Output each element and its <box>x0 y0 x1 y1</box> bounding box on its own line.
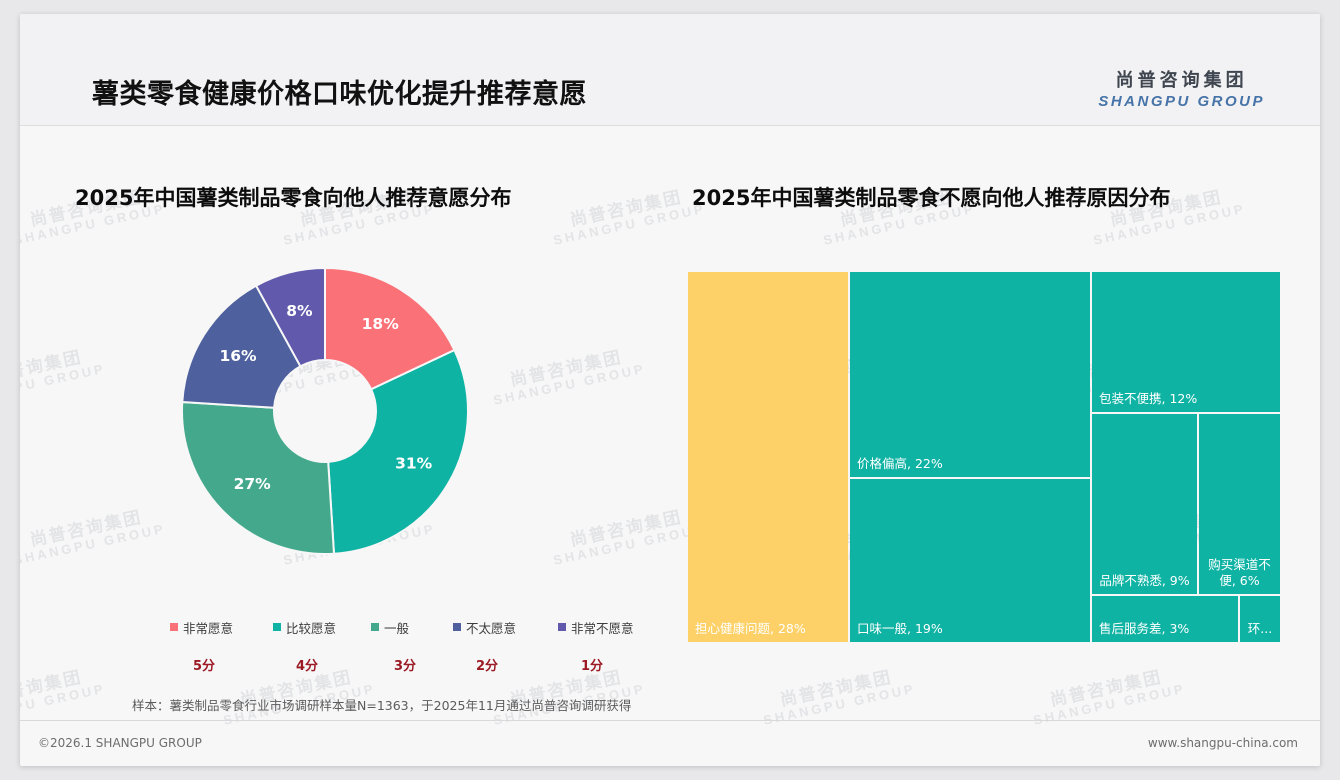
brand-logo: 尚普咨询集团 SHANGPU GROUP <box>1098 66 1265 110</box>
treemap-cell[interactable]: 包装不便携, 12% <box>1092 272 1280 412</box>
slide-canvas: 尚普咨询集团SHANGPU GROUP尚普咨询集团SHANGPU GROUP尚普… <box>20 14 1320 766</box>
page-title: 薯类零食健康价格口味优化提升推荐意愿 <box>92 72 587 111</box>
treemap-cell-label: 购买渠道不便, 6% <box>1203 557 1276 589</box>
score-label: 1分 <box>558 655 660 675</box>
legend-swatch-icon <box>170 623 178 631</box>
watermark-text: 尚普咨询集团SHANGPU GROUP <box>20 663 107 728</box>
treemap-cell-label: 价格偏高, 22% <box>857 456 1086 472</box>
donut-legend: 非常愿意比较愿意一般不太愿意非常不愿意 <box>170 617 660 637</box>
sample-note: 样本：薯类制品零食行业市场调研样本量N=1363，于2025年11月通过尚普咨询… <box>132 695 631 714</box>
watermark-text: 尚普咨询集团SHANGPU GROUP <box>20 343 107 408</box>
right-chart-title: 2025年中国薯类制品零食不愿向他人推荐原因分布 <box>692 182 1170 212</box>
logo-chinese-text: 尚普咨询集团 <box>1098 66 1265 92</box>
donut-chart: 18%31%27%16%8% <box>180 266 470 556</box>
legend-item[interactable]: 一般 <box>371 617 453 637</box>
score-label: 5分 <box>170 655 273 675</box>
legend-swatch-icon <box>558 623 566 631</box>
watermark-text: 尚普咨询集团SHANGPU GROUP <box>20 503 167 568</box>
treemap-cell[interactable]: 品牌不熟悉, 9% <box>1092 414 1197 594</box>
treemap-cell[interactable]: 口味一般, 19% <box>850 479 1090 642</box>
legend-item[interactable]: 不太愿意 <box>453 617 558 637</box>
donut-slice[interactable] <box>328 350 468 554</box>
legend-label: 非常愿意 <box>183 618 233 637</box>
legend-swatch-icon <box>273 623 281 631</box>
watermark-text: 尚普咨询集团SHANGPU GROUP <box>1028 663 1187 728</box>
score-label: 2分 <box>453 655 558 675</box>
legend-item[interactable]: 非常不愿意 <box>558 617 660 637</box>
legend-label: 非常不愿意 <box>571 618 634 637</box>
treemap-cell[interactable]: 担心健康问题, 28% <box>688 272 848 642</box>
watermark-text: 尚普咨询集团SHANGPU GROUP <box>548 503 707 568</box>
watermark-text: 尚普咨询集团SHANGPU GROUP <box>488 343 647 408</box>
legend-swatch-icon <box>371 623 379 631</box>
legend-item[interactable]: 非常愿意 <box>170 617 273 637</box>
donut-slice-label: 8% <box>286 302 313 320</box>
treemap-cell-label: 品牌不熟悉, 9% <box>1096 573 1193 589</box>
legend-swatch-icon <box>453 623 461 631</box>
slide-header: 薯类零食健康价格口味优化提升推荐意愿 尚普咨询集团 SHANGPU GROUP <box>20 14 1320 126</box>
donut-score-row: 5分4分3分2分1分 <box>170 655 660 675</box>
copyright-text: ©2026.1 SHANGPU GROUP <box>38 736 202 750</box>
website-link[interactable]: www.shangpu-china.com <box>1148 736 1298 750</box>
slide-footer: ©2026.1 SHANGPU GROUP www.shangpu-china.… <box>20 720 1320 766</box>
logo-english-text: SHANGPU GROUP <box>1098 93 1265 110</box>
treemap-cell-label: 售后服务差, 3% <box>1099 621 1234 637</box>
donut-chart-svg: 18%31%27%16%8% <box>180 266 470 556</box>
legend-item[interactable]: 比较愿意 <box>273 617 371 637</box>
treemap-cell-label: 包装不便携, 12% <box>1099 391 1276 407</box>
donut-slice-label: 31% <box>395 454 433 472</box>
treemap-cell-label: 担心健康问题, 28% <box>695 621 844 637</box>
watermark-text: 尚普咨询集团SHANGPU GROUP <box>548 183 707 248</box>
donut-slice-label: 27% <box>234 475 272 493</box>
legend-label: 比较愿意 <box>286 618 336 637</box>
left-chart-title: 2025年中国薯类制品零食向他人推荐意愿分布 <box>75 182 511 212</box>
treemap-cell[interactable]: 环... <box>1240 596 1280 642</box>
legend-label: 不太愿意 <box>466 618 516 637</box>
treemap-cell[interactable]: 购买渠道不便, 6% <box>1199 414 1280 594</box>
score-label: 3分 <box>371 655 453 675</box>
treemap-cell-label: 口味一般, 19% <box>857 621 1086 637</box>
score-label: 4分 <box>273 655 371 675</box>
treemap-cell-label: 环... <box>1244 621 1276 637</box>
donut-slice-label: 16% <box>219 347 257 365</box>
treemap-cell[interactable]: 售后服务差, 3% <box>1092 596 1238 642</box>
watermark-text: 尚普咨询集团SHANGPU GROUP <box>758 663 917 728</box>
donut-slice-label: 18% <box>362 315 400 333</box>
treemap-cell[interactable]: 价格偏高, 22% <box>850 272 1090 477</box>
legend-label: 一般 <box>384 618 409 637</box>
treemap-chart: 担心健康问题, 28%价格偏高, 22%口味一般, 19%包装不便携, 12%品… <box>688 272 1280 642</box>
